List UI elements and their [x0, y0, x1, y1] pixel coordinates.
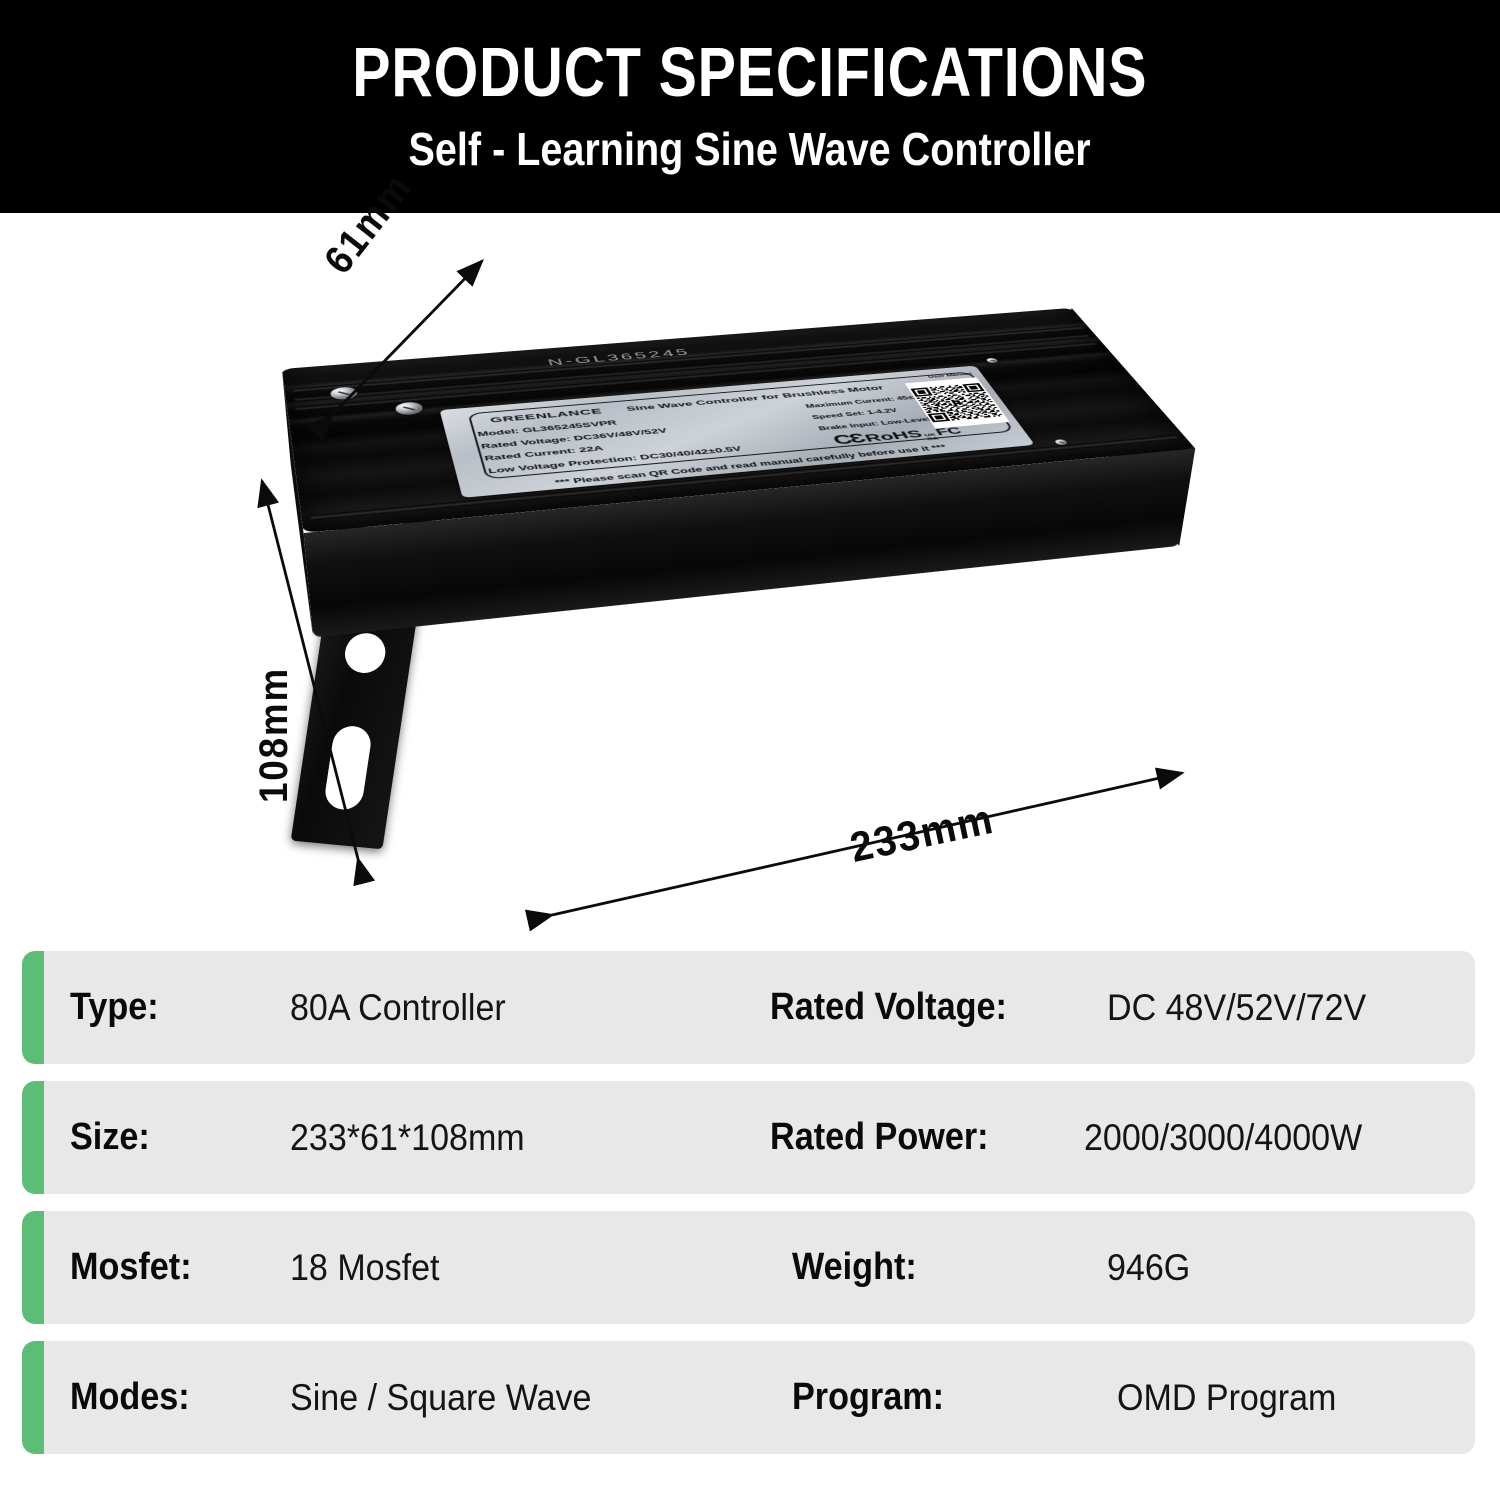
spec-value: DC 48V/52V/72V — [1107, 951, 1389, 1064]
page-subtitle: Self - Learning Sine Wave Controller — [409, 122, 1091, 176]
spec-value: OMD Program — [1117, 1341, 1355, 1454]
page-title: PRODUCT SPECIFICATIONS — [352, 37, 1147, 108]
rohs-mark-icon: RoHS — [862, 428, 925, 444]
spec-key: Rated Power: — [770, 1081, 1013, 1194]
row-accent-bar — [22, 1211, 44, 1324]
table-row: Mosfet: 18 Mosfet Weight: 946G — [22, 1211, 1475, 1324]
dimension-label-height: 108mm — [252, 667, 297, 803]
row-accent-bar — [22, 951, 44, 1064]
specifications-table: Type: 80A Controller Rated Voltage: DC 4… — [0, 941, 1500, 1500]
spec-value: 233*61*108mm — [290, 1081, 545, 1194]
spec-key: Type: — [70, 951, 169, 1064]
case-screw — [576, 410, 607, 424]
spec-key: Program: — [792, 1341, 961, 1454]
row-accent-bar — [22, 1341, 44, 1454]
row-accent-bar — [22, 1081, 44, 1194]
certification-marks: CƐ RoHS UK CA FC — [830, 423, 966, 449]
spec-key: Mosfet: — [70, 1211, 205, 1324]
header-banner: PRODUCT SPECIFICATIONS Self - Learning S… — [0, 0, 1500, 213]
spec-key: Modes: — [70, 1341, 203, 1454]
product-photo: N-GL365245 GREENLANCE Sine Wave Controll… — [0, 213, 1500, 941]
spec-value: 2000/3000/4000W — [1084, 1081, 1386, 1194]
case-screw — [614, 464, 646, 480]
qr-code-icon — [905, 377, 1010, 428]
spec-value: 80A Controller — [290, 951, 524, 1064]
spec-key: Weight: — [792, 1211, 931, 1324]
ce-mark-icon: CƐ — [830, 431, 868, 448]
spec-value: 946G — [1107, 1211, 1198, 1324]
table-row: Size: 233*61*108mm Rated Power: 2000/300… — [22, 1081, 1475, 1194]
dimension-arrow-depth — [300, 243, 540, 453]
table-row: Type: 80A Controller Rated Voltage: DC 4… — [22, 951, 1475, 1064]
spec-key: Size: — [70, 1081, 159, 1194]
case-screw-small — [985, 358, 998, 363]
table-row: Modes: Sine / Square Wave Program: OMD P… — [22, 1341, 1475, 1454]
spec-value: 18 Mosfet — [290, 1211, 452, 1324]
case-screw-small — [1054, 439, 1069, 445]
fc-mark-icon: FC — [933, 426, 964, 439]
spec-value: Sine / Square Wave — [290, 1341, 618, 1454]
dimension-arrow-length — [530, 693, 1210, 923]
ukca-mark-icon: UK CA — [923, 433, 939, 441]
spec-key: Rated Voltage: — [770, 951, 1033, 1064]
